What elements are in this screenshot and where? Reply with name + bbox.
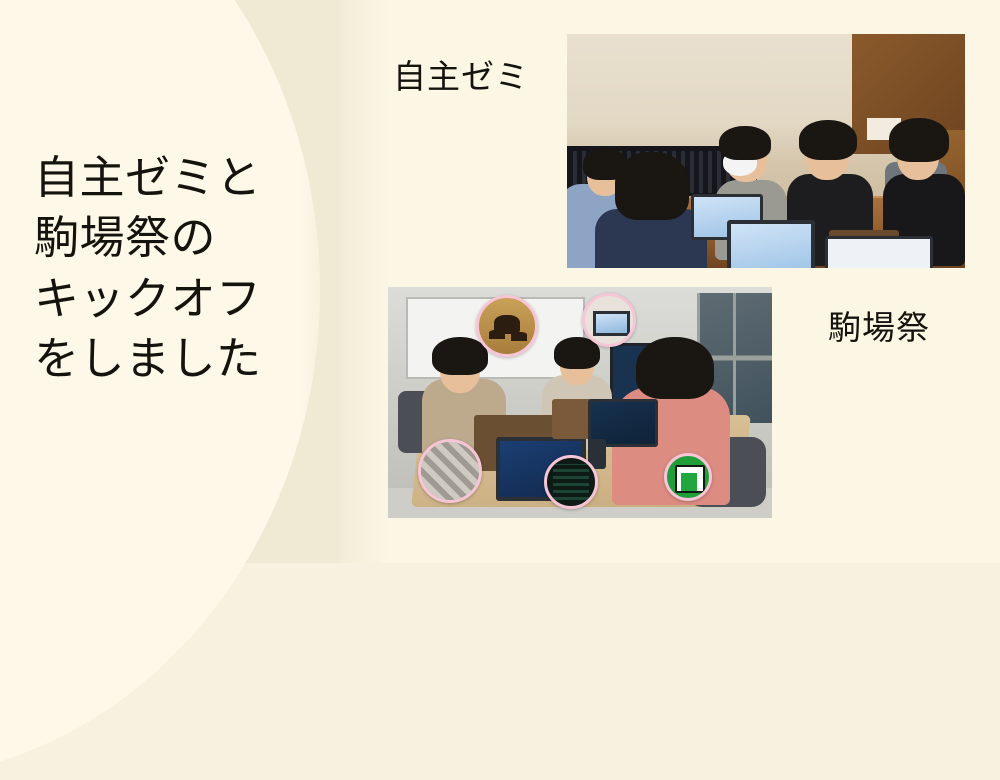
page-title: 自主ゼミと 駒場祭の キックオフ をしました — [34, 148, 334, 389]
seminar-group-photo — [567, 34, 965, 268]
green-game-circle — [664, 453, 712, 501]
seminar-laptop-2 — [727, 220, 815, 268]
aerial-map-circle — [418, 439, 482, 503]
horse-photo-circle — [476, 295, 538, 357]
label-seminar: 自主ゼミ — [393, 50, 529, 98]
kickoff-group-photo — [388, 287, 772, 518]
title-line-4: をしました — [34, 329, 334, 389]
title-line-2: 駒場祭の — [34, 208, 334, 268]
dark-terminal-circle — [544, 455, 598, 509]
laptop-photo-circle — [582, 293, 636, 347]
title-line-3: キックオフ — [34, 269, 334, 329]
seminar-laptop-4 — [825, 236, 933, 268]
title-line-1: 自主ゼミと — [34, 148, 334, 208]
label-festival: 駒場祭 — [828, 301, 930, 349]
